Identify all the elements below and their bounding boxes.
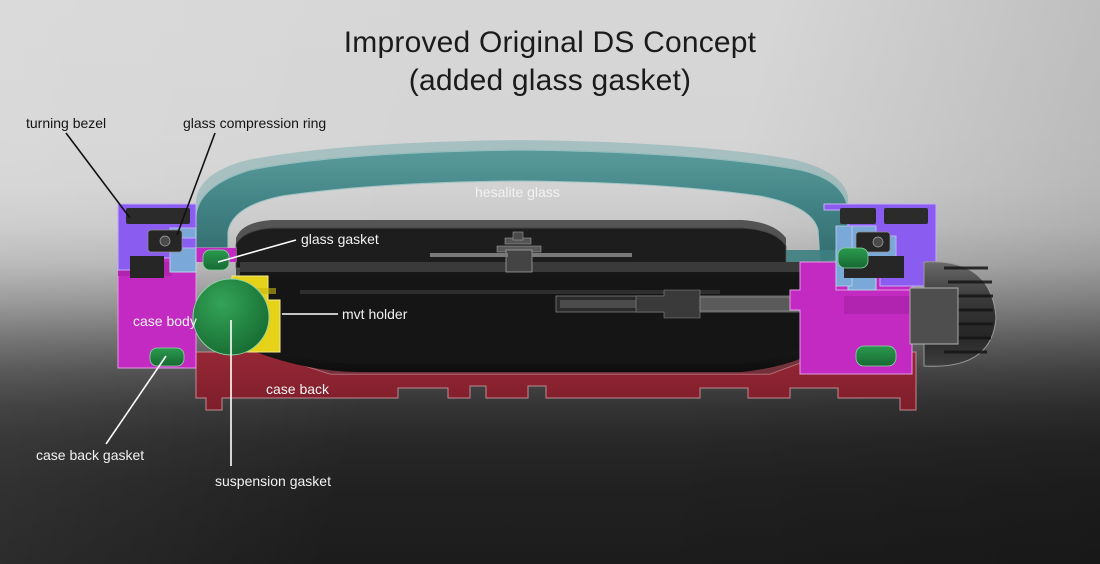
label-case-back: case back xyxy=(266,382,329,396)
glass-gasket-shape-right xyxy=(838,248,868,268)
diagram-canvas: Improved Original DS Concept (added glas… xyxy=(0,0,1100,564)
page-title: Improved Original DS Concept (added glas… xyxy=(0,24,1100,99)
label-hesalite-glass: hesalite glass xyxy=(475,185,560,199)
label-case-body: case body xyxy=(133,314,197,328)
label-suspension-gasket: suspension gasket xyxy=(215,474,331,488)
case-back-gasket-shape xyxy=(150,348,184,366)
title-line-2: (added glass gasket) xyxy=(0,62,1100,100)
label-case-back-gasket: case back gasket xyxy=(36,448,144,462)
leader-turning-bezel xyxy=(66,133,130,218)
title-line-1: Improved Original DS Concept xyxy=(0,24,1100,62)
label-glass-compression-ring: glass compression ring xyxy=(183,116,326,130)
label-turning-bezel: turning bezel xyxy=(26,116,106,130)
label-mvt-holder: mvt holder xyxy=(342,307,407,321)
case-back-gasket-shape-right xyxy=(856,346,896,366)
leader-case-back-gasket xyxy=(106,356,166,444)
label-glass-gasket: glass gasket xyxy=(301,232,379,246)
